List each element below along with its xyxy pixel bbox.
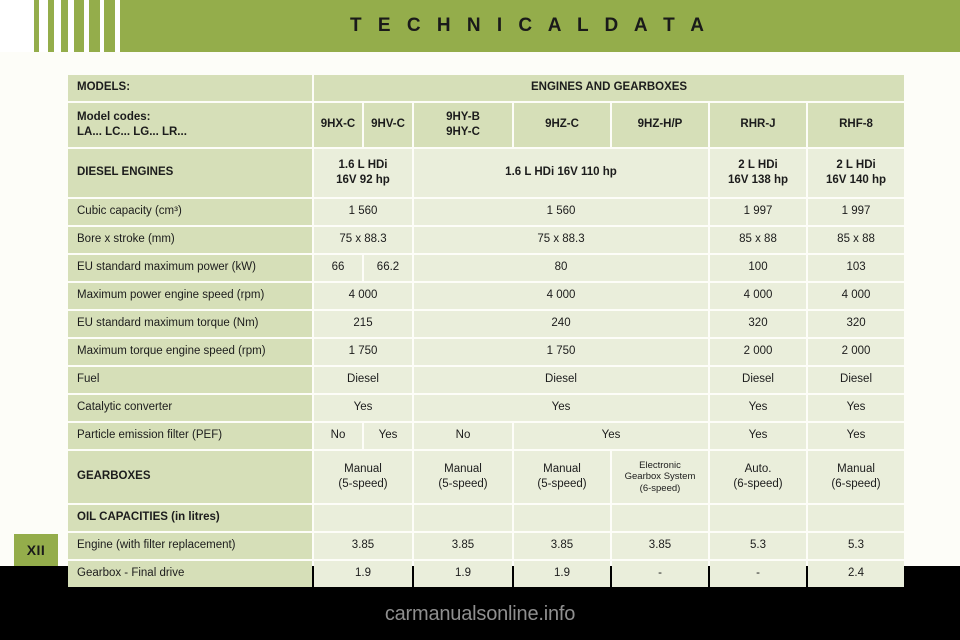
table-row: Catalytic converter Yes Yes Yes Yes <box>68 395 904 421</box>
diesel-engine-2-140: 2 L HDi 16V 140 hp <box>808 149 904 197</box>
model-code-9hz-c: 9HZ-C <box>514 103 610 147</box>
row-value-c5: 100 <box>710 255 806 281</box>
gearbox-c3-line2: (5-speed) <box>514 477 610 492</box>
row-value-c5: - <box>710 561 806 587</box>
row-value-c1: 75 x 88.3 <box>314 227 412 253</box>
model-code-9hv-c: 9HV-C <box>364 103 412 147</box>
row-value-c234: 75 x 88.3 <box>414 227 708 253</box>
oil-header-blank-c6 <box>808 505 904 531</box>
row-value-c1: Diesel <box>314 367 412 393</box>
row-label: EU standard maximum power (kW) <box>68 255 312 281</box>
table-row: Fuel Diesel Diesel Diesel Diesel <box>68 367 904 393</box>
row-value-c1b: 66.2 <box>364 255 412 281</box>
row-value-c5: 5.3 <box>710 533 806 559</box>
row-value-c6: 1 997 <box>808 199 904 225</box>
gearbox-c1-line2: (5-speed) <box>314 477 412 492</box>
row-value-c234: 240 <box>414 311 708 337</box>
row-value-c234: 80 <box>414 255 708 281</box>
table-row: Gearbox - Final drive 1.9 1.9 1.9 - - 2.… <box>68 561 904 587</box>
row-value-c234: 4 000 <box>414 283 708 309</box>
model-codes-label-line1: Model codes: <box>77 110 308 125</box>
table-row: Maximum power engine speed (rpm) 4 000 4… <box>68 283 904 309</box>
model-code-9hx-c: 9HX-C <box>314 103 362 147</box>
row-value-c1: 3.85 <box>314 533 412 559</box>
oil-header-blank-c2 <box>414 505 512 531</box>
row-value-c6: 2.4 <box>808 561 904 587</box>
row-value-c6: 85 x 88 <box>808 227 904 253</box>
table-row-oil-capacities-header: OIL CAPACITIES (in litres) <box>68 505 904 531</box>
model-code-9hy-b-c: 9HY-B 9HY-C <box>414 103 512 147</box>
row-value-c5: 4 000 <box>710 283 806 309</box>
row-value-c234: 1 750 <box>414 339 708 365</box>
page-banner: T E C H N I C A L D A T A <box>0 0 960 52</box>
models-label: MODELS: <box>68 75 312 101</box>
table-row-models: MODELS: ENGINES AND GEARBOXES <box>68 75 904 101</box>
diesel-engine-2-138-line2: 16V 138 hp <box>710 173 806 188</box>
row-label: Maximum torque engine speed (rpm) <box>68 339 312 365</box>
table-row: Cubic capacity (cm³) 1 560 1 560 1 997 1… <box>68 199 904 225</box>
watermark: carmanualsonline.info <box>0 603 960 626</box>
gearbox-c3-line1: Manual <box>514 462 610 477</box>
table-row-gearboxes: GEARBOXES Manual (5-speed) Manual (5-spe… <box>68 451 904 503</box>
row-value-c34: Yes <box>514 423 708 449</box>
row-value-c234: 1 560 <box>414 199 708 225</box>
row-value-c1a: 66 <box>314 255 362 281</box>
gearbox-c3: Manual (5-speed) <box>514 451 610 503</box>
oil-header-blank-c1 <box>314 505 412 531</box>
banner-stripe-2 <box>48 0 54 52</box>
diesel-engine-2-138: 2 L HDi 16V 138 hp <box>710 149 806 197</box>
banner-stripe-5 <box>89 0 100 52</box>
gearbox-c2-line1: Manual <box>414 462 512 477</box>
row-value-c1b: Yes <box>364 423 412 449</box>
gearbox-c5-line2: (6-speed) <box>710 477 806 492</box>
row-value-c1: Yes <box>314 395 412 421</box>
row-label: EU standard maximum torque (Nm) <box>68 311 312 337</box>
row-value-c1: 1.9 <box>314 561 412 587</box>
oil-header-blank-c4 <box>612 505 708 531</box>
model-codes-label: Model codes: LA... LC... LG... LR... <box>68 103 312 147</box>
row-value-c1: 1 560 <box>314 199 412 225</box>
row-value-c5: Yes <box>710 395 806 421</box>
gearbox-c4-line1: Electronic <box>612 460 708 472</box>
row-label: Cubic capacity (cm³) <box>68 199 312 225</box>
row-value-c234: Yes <box>414 395 708 421</box>
row-value-c6: 2 000 <box>808 339 904 365</box>
row-label: Catalytic converter <box>68 395 312 421</box>
diesel-engine-16-92: 1.6 L HDi 16V 92 hp <box>314 149 412 197</box>
gearbox-c6-line2: (6-speed) <box>808 477 904 492</box>
diesel-engine-2-140-line1: 2 L HDi <box>808 158 904 173</box>
row-value-c6: Yes <box>808 423 904 449</box>
oil-header-blank-c3 <box>514 505 610 531</box>
banner-stripe-6 <box>104 0 115 52</box>
model-code-9hz-hp: 9HZ-H/P <box>612 103 708 147</box>
row-label: Particle emission filter (PEF) <box>68 423 312 449</box>
oil-header-blank-c5 <box>710 505 806 531</box>
row-value-c4: - <box>612 561 708 587</box>
row-label: Bore x stroke (mm) <box>68 227 312 253</box>
diesel-engine-16-110: 1.6 L HDi 16V 110 hp <box>414 149 708 197</box>
row-value-c2: 3.85 <box>414 533 512 559</box>
gearbox-c4-line2: Gearbox System <box>612 471 708 483</box>
diesel-engine-2-138-line1: 2 L HDi <box>710 158 806 173</box>
table-row: Maximum torque engine speed (rpm) 1 750 … <box>68 339 904 365</box>
row-value-c6: 320 <box>808 311 904 337</box>
row-value-c5: 85 x 88 <box>710 227 806 253</box>
gearbox-c2: Manual (5-speed) <box>414 451 512 503</box>
row-value-c6: 103 <box>808 255 904 281</box>
banner-stripe-3 <box>61 0 68 52</box>
engines-and-gearboxes-label: ENGINES AND GEARBOXES <box>314 75 904 101</box>
row-label: Maximum power engine speed (rpm) <box>68 283 312 309</box>
row-value-c1: 1 750 <box>314 339 412 365</box>
gearbox-c4-line3: (6-speed) <box>612 483 708 495</box>
technical-data-table: MODELS: ENGINES AND GEARBOXES Model code… <box>66 73 906 589</box>
model-code-9hy-c: 9HY-C <box>414 125 512 140</box>
row-value-c5: 2 000 <box>710 339 806 365</box>
diesel-engines-label: DIESEL ENGINES <box>68 149 312 197</box>
page-number-tab: XII <box>14 534 58 566</box>
row-value-c2: 1.9 <box>414 561 512 587</box>
banner-stripe-1 <box>34 0 39 52</box>
table-row: EU standard maximum power (kW) 66 66.2 8… <box>68 255 904 281</box>
table-row: Bore x stroke (mm) 75 x 88.3 75 x 88.3 8… <box>68 227 904 253</box>
table-row-diesel-engines: DIESEL ENGINES 1.6 L HDi 16V 92 hp 1.6 L… <box>68 149 904 197</box>
row-value-c6: 5.3 <box>808 533 904 559</box>
row-value-c6: 4 000 <box>808 283 904 309</box>
row-value-c1: 4 000 <box>314 283 412 309</box>
row-value-c3: 3.85 <box>514 533 610 559</box>
table-row: Engine (with filter replacement) 3.85 3.… <box>68 533 904 559</box>
diesel-engine-2-140-line2: 16V 140 hp <box>808 173 904 188</box>
table-row: Particle emission filter (PEF) No Yes No… <box>68 423 904 449</box>
diesel-engine-16-92-line2: 16V 92 hp <box>314 173 412 188</box>
gearbox-c1: Manual (5-speed) <box>314 451 412 503</box>
diesel-engine-16-92-line1: 1.6 L HDi <box>314 158 412 173</box>
row-value-c6: Diesel <box>808 367 904 393</box>
gearbox-c4: Electronic Gearbox System (6-speed) <box>612 451 708 503</box>
row-value-c6: Yes <box>808 395 904 421</box>
model-code-9hy-b: 9HY-B <box>414 110 512 125</box>
row-value-c5: Diesel <box>710 367 806 393</box>
row-value-c1-group: No Yes <box>314 423 412 449</box>
model-code-rhf-8: RHF-8 <box>808 103 904 147</box>
table-row-model-codes: Model codes: LA... LC... LG... LR... 9HX… <box>68 103 904 147</box>
row-value-c3: 1.9 <box>514 561 610 587</box>
row-value-c1a: No <box>314 423 362 449</box>
row-label: Engine (with filter replacement) <box>68 533 312 559</box>
gearbox-c2-line2: (5-speed) <box>414 477 512 492</box>
page-title: T E C H N I C A L D A T A <box>350 0 710 52</box>
row-value-c2: No <box>414 423 512 449</box>
row-value-c1: 215 <box>314 311 412 337</box>
row-value-c5: Yes <box>710 423 806 449</box>
gearbox-c6: Manual (6-speed) <box>808 451 904 503</box>
model-code-cell-group-1: 9HX-C 9HV-C <box>314 103 412 147</box>
row-value-c5: 1 997 <box>710 199 806 225</box>
row-label: Gearbox - Final drive <box>68 561 312 587</box>
row-value-c4: 3.85 <box>612 533 708 559</box>
gearbox-c5-line1: Auto. <box>710 462 806 477</box>
row-value-c1-group: 66 66.2 <box>314 255 412 281</box>
banner-stripe-4 <box>74 0 84 52</box>
table-row: EU standard maximum torque (Nm) 215 240 … <box>68 311 904 337</box>
gearbox-c1-line1: Manual <box>314 462 412 477</box>
row-value-c5: 320 <box>710 311 806 337</box>
row-value-c234: Diesel <box>414 367 708 393</box>
model-code-rhr-j: RHR-J <box>710 103 806 147</box>
oil-capacities-label: OIL CAPACITIES (in litres) <box>68 505 312 531</box>
row-label: Fuel <box>68 367 312 393</box>
gearbox-c5: Auto. (6-speed) <box>710 451 806 503</box>
gearbox-c6-line1: Manual <box>808 462 904 477</box>
model-codes-label-line2: LA... LC... LG... LR... <box>77 125 308 140</box>
gearboxes-label: GEARBOXES <box>68 451 312 503</box>
